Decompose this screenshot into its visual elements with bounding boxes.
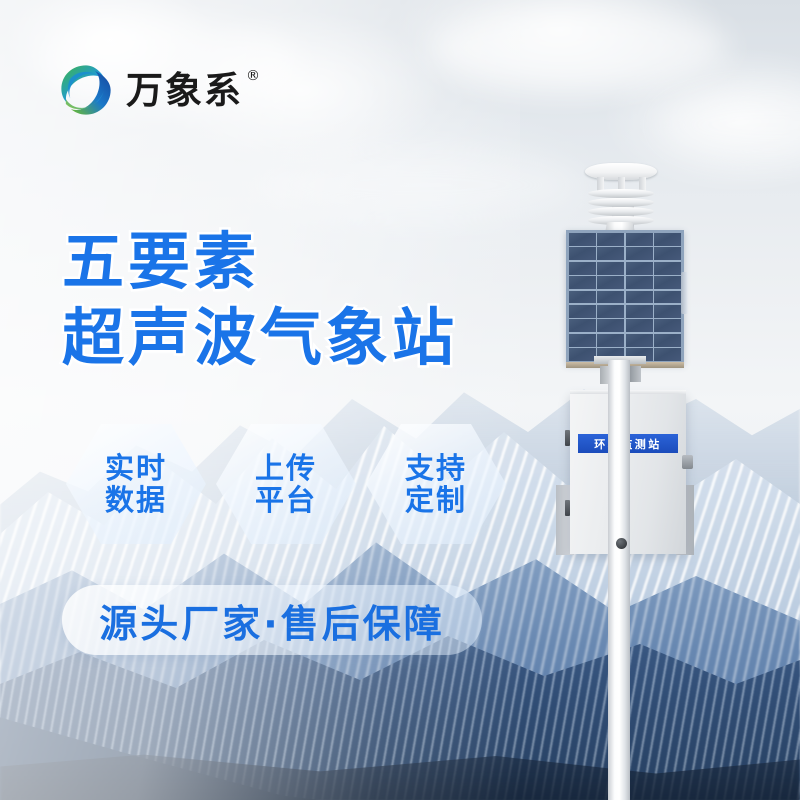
guarantee-banner-text: 源头厂家·售后保障 — [99, 593, 444, 648]
solar-cell — [569, 319, 596, 332]
badge-line-1: 支持 — [405, 452, 467, 484]
solar-cell — [626, 247, 653, 260]
solar-cell — [654, 291, 681, 304]
mounting-pole — [608, 360, 630, 800]
globe-swirl-logo-icon — [58, 62, 114, 118]
enclosure-latch — [682, 455, 693, 469]
solar-cell — [654, 262, 681, 275]
solar-cell — [597, 233, 624, 246]
solar-cell — [654, 334, 681, 347]
solar-cell — [654, 319, 681, 332]
solar-cell — [597, 262, 624, 275]
solar-cell — [654, 305, 681, 318]
feature-badge-realtime-data[interactable]: 实时 数据 — [66, 424, 206, 544]
solar-cell — [626, 305, 653, 318]
solar-cell — [569, 276, 596, 289]
solar-cell — [626, 276, 653, 289]
cloud-wisp — [430, 8, 730, 88]
badge-line-1: 实时 — [105, 452, 167, 484]
solar-cell — [626, 334, 653, 347]
radiation-shield-louver — [588, 207, 654, 216]
solar-panel — [566, 230, 684, 364]
solar-panel-side-tab — [681, 272, 688, 314]
headline-block: 五要素 超声波气象站 — [62, 224, 458, 375]
solar-cell — [626, 262, 653, 275]
feature-badge-customization[interactable]: 支持 定制 — [366, 424, 506, 544]
cloud-wisp — [250, 150, 580, 220]
feature-badge-upload-platform[interactable]: 上传 平台 — [216, 424, 356, 544]
solar-cell — [654, 348, 681, 361]
brand-name-text: 万象系 — [126, 69, 243, 112]
solar-cell — [597, 291, 624, 304]
radiation-shield-louver — [588, 189, 654, 198]
solar-cell — [569, 334, 596, 347]
solar-cell — [597, 276, 624, 289]
solar-cell — [654, 276, 681, 289]
feature-badge-row: 实时 数据 上传 平台 支持 定制 — [66, 424, 506, 544]
pole-bolt — [616, 538, 627, 549]
brand-logo: 万象系® — [58, 62, 243, 118]
solar-cell — [569, 247, 596, 260]
solar-cell — [569, 348, 596, 361]
registered-trademark-icon: ® — [246, 69, 262, 83]
solar-cell — [597, 305, 624, 318]
solar-cell — [569, 262, 596, 275]
badge-line-2: 数据 — [105, 484, 167, 516]
solar-cell-grid — [569, 233, 681, 361]
solar-cell — [626, 319, 653, 332]
solar-cell — [597, 319, 624, 332]
solar-cell — [626, 233, 653, 246]
solar-cell — [597, 334, 624, 347]
headline-line-1: 五要素 — [62, 224, 458, 300]
solar-cell — [654, 233, 681, 246]
solar-cell — [626, 291, 653, 304]
solar-cell — [569, 291, 596, 304]
guarantee-banner: 源头厂家·售后保障 — [62, 585, 482, 655]
solar-cell — [597, 247, 624, 260]
badge-line-1: 上传 — [255, 452, 317, 484]
brand-name: 万象系® — [126, 72, 243, 109]
enclosure-hinge — [565, 500, 570, 516]
solar-cell — [569, 305, 596, 318]
badge-line-2: 平台 — [255, 484, 317, 516]
product-poster: 环境监测站 — [0, 0, 800, 800]
solar-cell — [569, 233, 596, 246]
headline-line-2: 超声波气象站 — [62, 300, 458, 376]
enclosure-hinge — [565, 430, 570, 446]
radiation-shield-louver — [588, 198, 654, 207]
badge-line-2: 定制 — [405, 484, 467, 516]
solar-cell — [654, 247, 681, 260]
